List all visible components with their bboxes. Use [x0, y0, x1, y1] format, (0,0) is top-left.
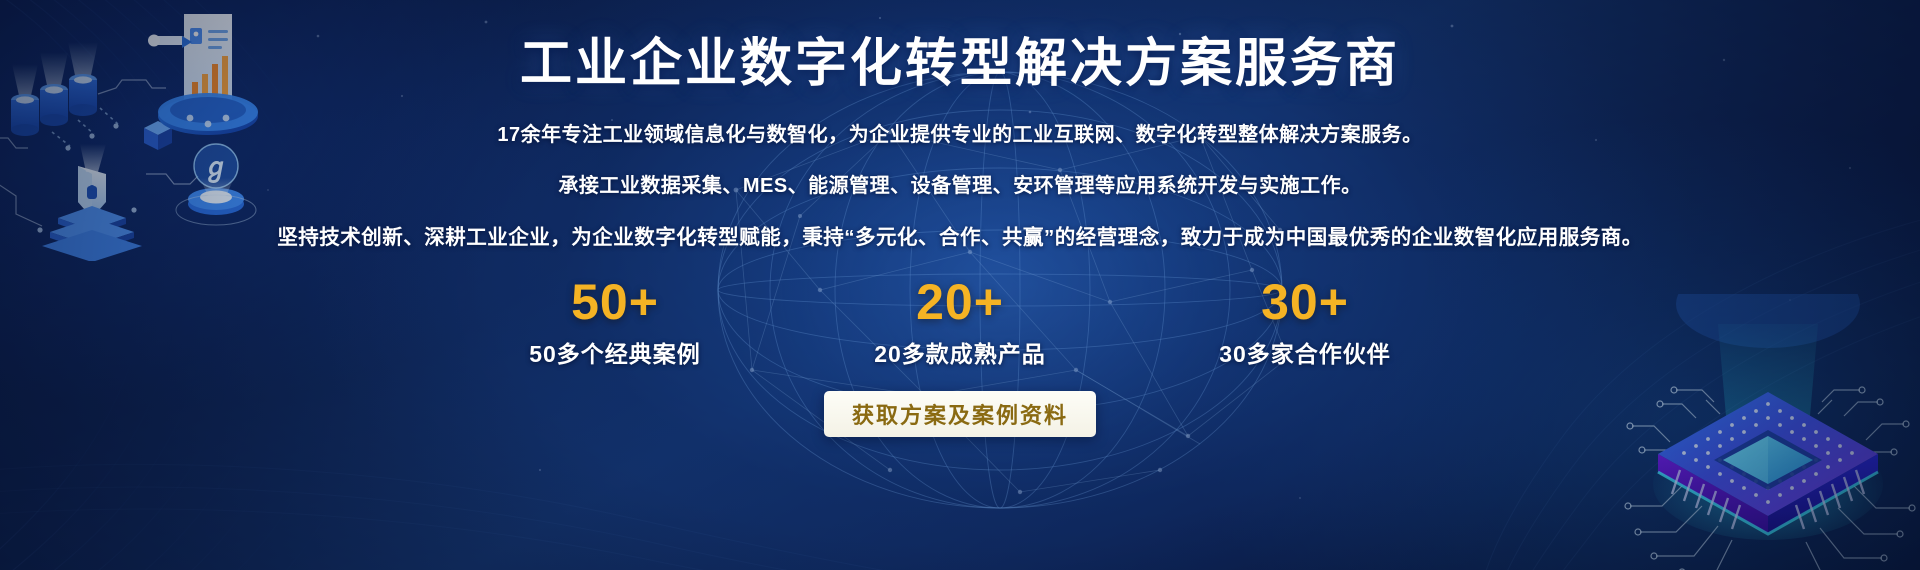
- stat-item-products: 20+ 20多款成熟产品: [795, 276, 1125, 369]
- subtitle-line-3: 坚持技术创新、深耕工业企业，为企业数字化转型赋能，秉持“多元化、合作、共赢”的经…: [277, 220, 1643, 250]
- stat-label: 30多家合作伙伴: [1140, 335, 1470, 369]
- page-title: 工业企业数字化转型解决方案服务商: [520, 38, 1400, 90]
- hero-banner: ℊ: [0, 0, 1920, 570]
- stat-number: 30+: [1140, 276, 1470, 329]
- stat-item-partners: 30+ 30多家合作伙伴: [1140, 276, 1470, 369]
- stat-label: 50多个经典案例: [450, 335, 780, 369]
- stat-number: 50+: [450, 276, 780, 329]
- hero-content: 工业企业数字化转型解决方案服务商 17余年专注工业领域信息化与数智化，为企业提供…: [0, 0, 1920, 570]
- stat-number: 20+: [795, 276, 1125, 329]
- stat-label: 20多款成熟产品: [795, 335, 1125, 369]
- get-solution-button[interactable]: 获取方案及案例资料: [824, 391, 1096, 437]
- stat-item-cases: 50+ 50多个经典案例: [450, 276, 780, 369]
- subtitle-line-2: 承接工业数据采集、MES、能源管理、设备管理、安环管理等应用系统开发与实施工作。: [558, 169, 1361, 198]
- subtitle-line-1: 17余年专注工业领域信息化与数智化，为企业提供专业的工业互联网、数字化转型整体解…: [497, 118, 1422, 147]
- stats-row: 50+ 50多个经典案例 20+ 20多款成熟产品 30+ 30多家合作伙伴: [440, 276, 1480, 369]
